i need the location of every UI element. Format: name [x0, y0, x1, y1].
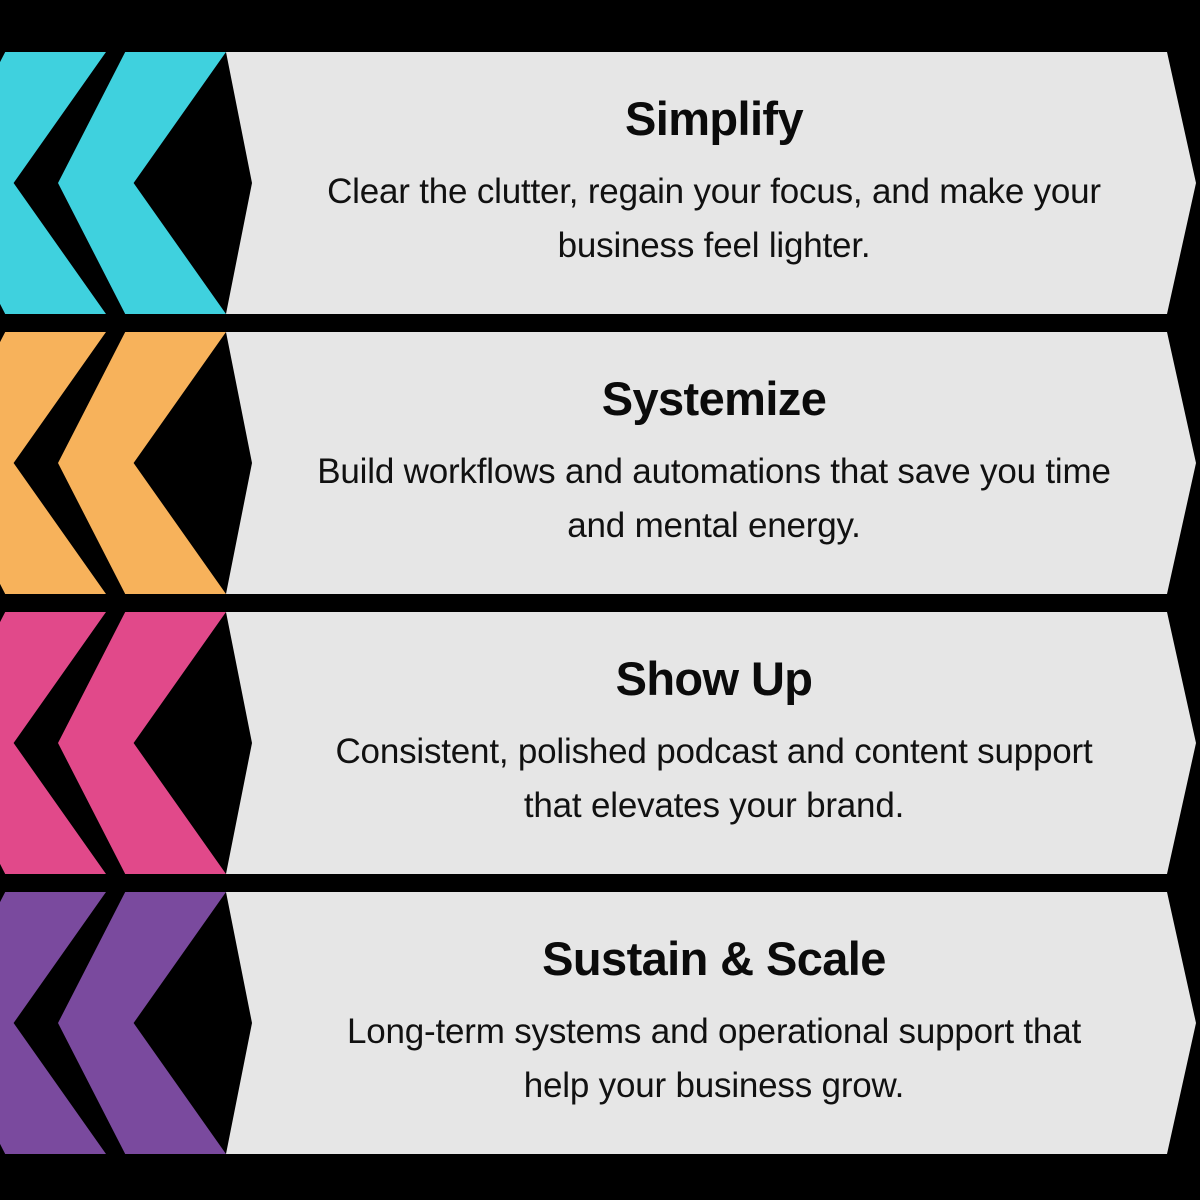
- step-text-block: Simplify Clear the clutter, regain your …: [226, 52, 1196, 314]
- step-description: Consistent, polished podcast and content…: [314, 725, 1114, 831]
- step-title: Systemize: [602, 374, 827, 423]
- step-title: Show Up: [616, 654, 813, 703]
- infographic-canvas: Simplify Clear the clutter, regain your …: [0, 0, 1200, 1200]
- step-description: Build workflows and automations that sav…: [314, 445, 1114, 551]
- step-title: Simplify: [625, 94, 803, 143]
- step-text-block: Show Up Consistent, polished podcast and…: [226, 612, 1196, 874]
- double-chevron-left-icon: [0, 332, 232, 594]
- step-description: Clear the clutter, regain your focus, an…: [314, 165, 1114, 271]
- double-chevron-left-icon: [0, 612, 232, 874]
- step-row: Show Up Consistent, polished podcast and…: [0, 612, 1200, 874]
- step-text-block: Sustain & Scale Long-term systems and op…: [226, 892, 1196, 1154]
- step-row: Systemize Build workflows and automation…: [0, 332, 1200, 594]
- step-row: Simplify Clear the clutter, regain your …: [0, 52, 1200, 314]
- double-chevron-left-icon: [0, 52, 232, 314]
- step-row: Sustain & Scale Long-term systems and op…: [0, 892, 1200, 1154]
- chevron-left-icon-inner: [58, 892, 226, 1154]
- step-text-block: Systemize Build workflows and automation…: [226, 332, 1196, 594]
- step-description: Long-term systems and operational suppor…: [314, 1005, 1114, 1111]
- chevron-left-icon-inner: [58, 612, 226, 874]
- step-title: Sustain & Scale: [542, 934, 886, 983]
- chevron-left-icon-inner: [58, 52, 226, 314]
- double-chevron-left-icon: [0, 892, 232, 1154]
- chevron-left-icon-inner: [58, 332, 226, 594]
